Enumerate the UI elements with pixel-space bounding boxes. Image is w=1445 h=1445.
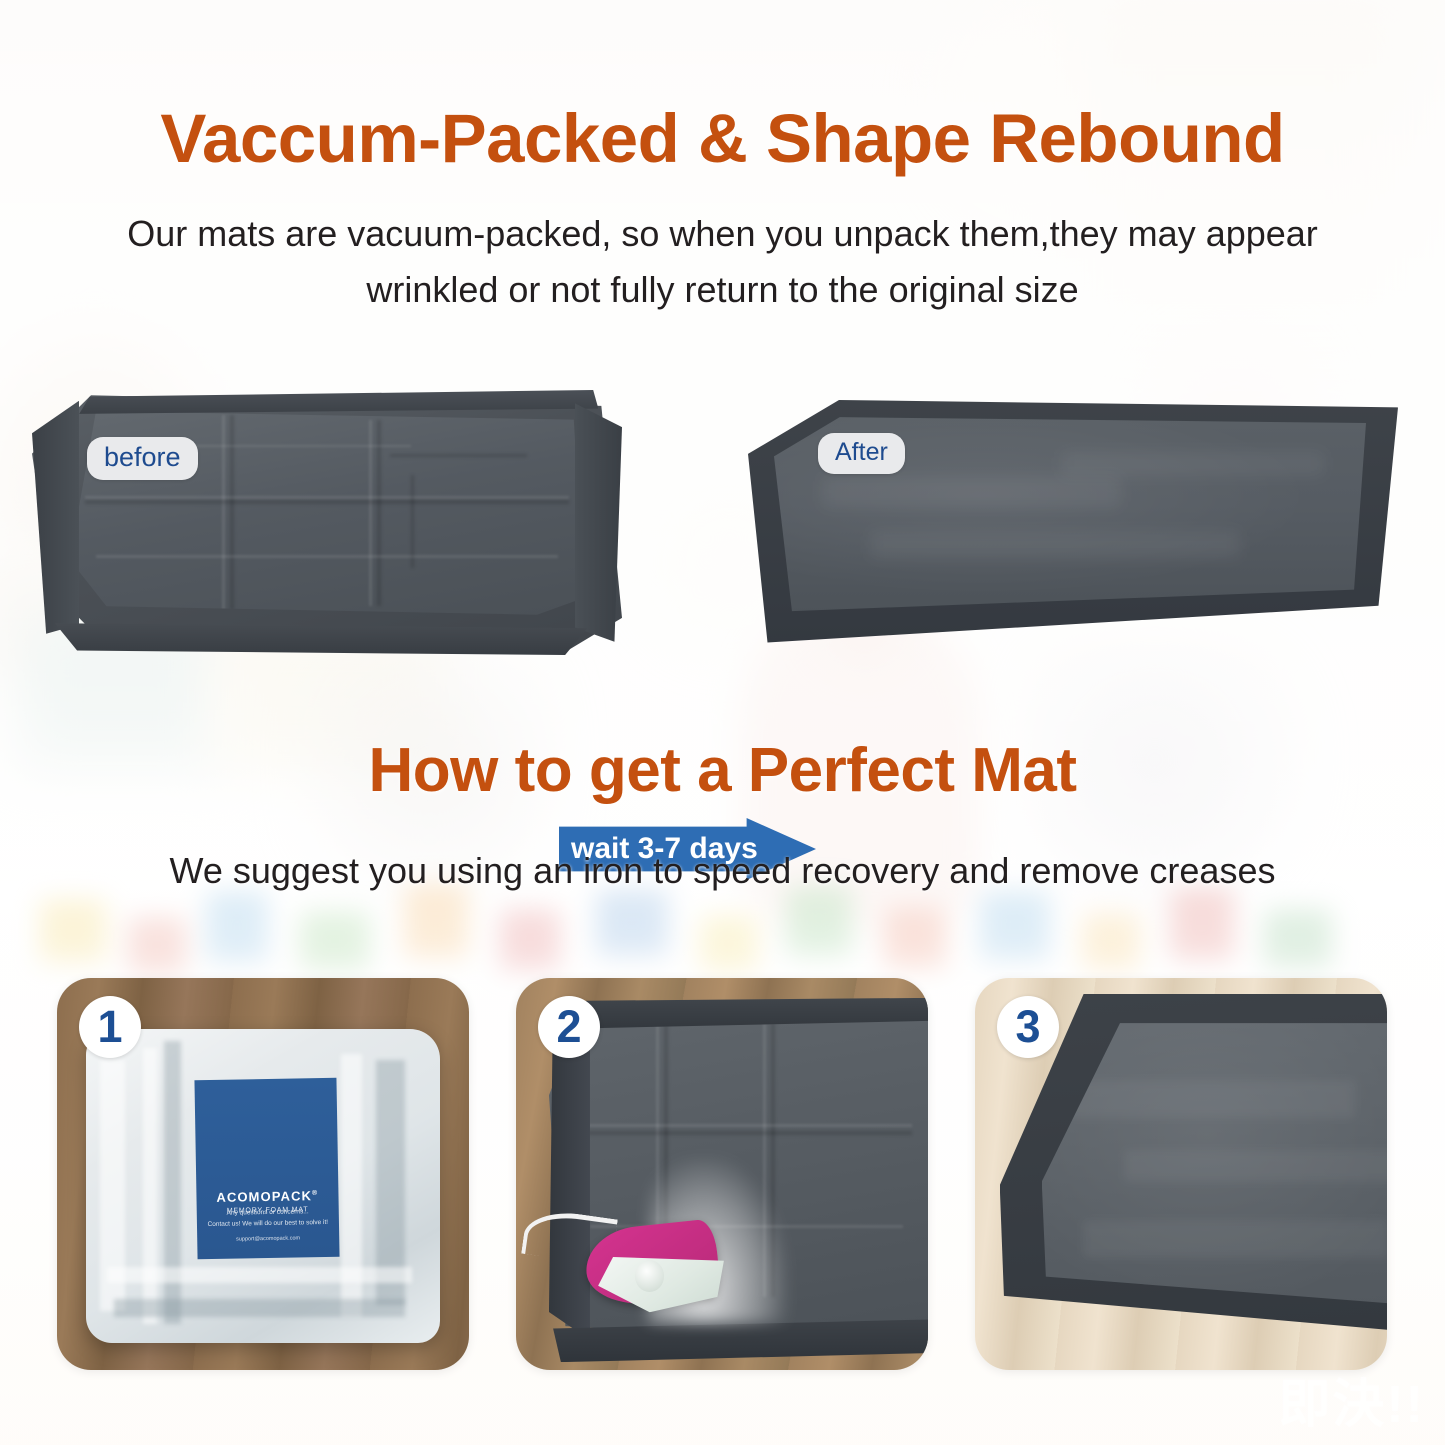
- subtitle-vacuum-packed: Our mats are vacuum-packed, so when you …: [0, 206, 1445, 318]
- before-after-comparison: before wait 3-7 days After: [0, 380, 1445, 670]
- step-panel-2: 2: [516, 978, 928, 1370]
- page-title-vacuum-packed: Vaccum-Packed & Shape Rebound: [0, 99, 1445, 178]
- page-title-perfect-mat: How to get a Perfect Mat: [0, 735, 1445, 806]
- finished-mat-surface: [1042, 1023, 1387, 1340]
- step-panel-3: 3: [975, 978, 1387, 1370]
- step-number-badge-2: 2: [538, 996, 600, 1058]
- before-label-badge: before: [87, 437, 198, 480]
- before-mat-binding-left: [32, 401, 79, 634]
- before-mat-binding-bottom: [44, 623, 599, 655]
- step-number-badge-1: 1: [79, 996, 141, 1058]
- step-panel-1: ACOMOPACK® MEMORY FOAM MAT Any questions…: [57, 978, 469, 1370]
- package-support-text: Any questions or concerns... Contact us!…: [196, 1206, 338, 1230]
- before-mat-photo: before: [32, 390, 622, 655]
- product-infographic: Vaccum-Packed & Shape Rebound Our mats a…: [0, 0, 1445, 1445]
- steps-gallery: ACOMOPACK® MEMORY FOAM MAT Any questions…: [0, 978, 1445, 1370]
- after-label-badge: After: [818, 433, 905, 474]
- subtitle-perfect-mat: We suggest you using an iron to speed re…: [0, 843, 1445, 899]
- registered-trademark-icon: ®: [312, 1190, 318, 1197]
- before-mat-binding-right: [575, 403, 622, 642]
- step-number-badge-3: 3: [997, 996, 1059, 1058]
- before-mat-shape: [32, 390, 622, 655]
- package-brand-name: ACOMOPACK®: [216, 1188, 318, 1205]
- package-support-email: support@acomopack.com: [197, 1235, 339, 1243]
- package-brand-label: ACOMOPACK® MEMORY FOAM MAT Any questions…: [194, 1078, 339, 1259]
- iron-dial-knob: [635, 1260, 664, 1291]
- vacuum-sealed-bag: ACOMOPACK® MEMORY FOAM MAT Any questions…: [86, 1029, 440, 1343]
- after-mat-photo: After: [748, 400, 1398, 645]
